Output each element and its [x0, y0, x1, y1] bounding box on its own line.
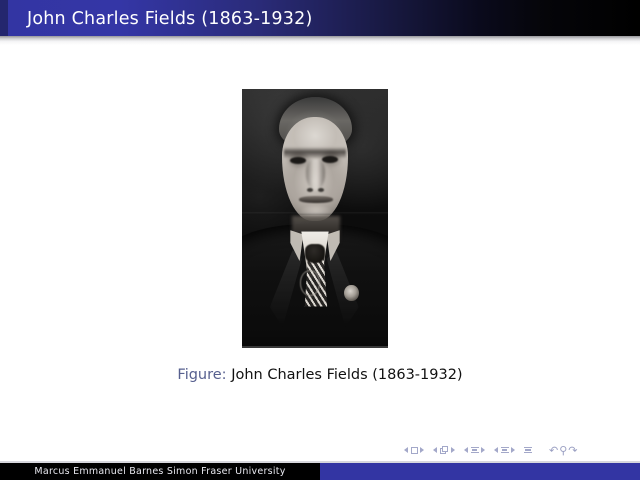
search-icon[interactable]: ⚲ [559, 445, 567, 456]
figure-caption-label: Figure: [177, 367, 226, 383]
previous-frame-icon[interactable] [433, 447, 437, 453]
previous-section-icon[interactable] [494, 447, 498, 453]
section-navigation[interactable] [494, 446, 515, 454]
next-slide-icon[interactable] [420, 447, 424, 453]
next-frame-icon[interactable] [451, 447, 455, 453]
subsection-navigation[interactable] [464, 446, 485, 454]
photo-eye-left [290, 157, 306, 164]
figure-caption: Figure: John Charles Fields (1863-1932) [0, 365, 640, 385]
back-icon[interactable]: ↶ [549, 445, 558, 456]
forward-icon[interactable]: ↷ [568, 445, 577, 456]
navigation-tools[interactable]: ↶ ⚲ ↷ [549, 445, 578, 456]
portrait-photograph [242, 89, 388, 348]
slide-navigation[interactable] [404, 447, 424, 454]
presentation-navigation[interactable] [524, 446, 532, 454]
photo-mouth [299, 196, 333, 203]
next-subsection-icon[interactable] [481, 447, 485, 453]
slide-footer: Marcus Emmanuel Barnes Simon Fraser Univ… [0, 461, 640, 480]
previous-subsection-icon[interactable] [464, 447, 468, 453]
slide-icon[interactable] [411, 447, 418, 454]
photo-scan-seam [242, 212, 388, 215]
footer-author-institute: Marcus Emmanuel Barnes Simon Fraser Univ… [0, 463, 320, 480]
beamer-slide: John Charles Fields (1863-1932) [0, 0, 640, 480]
figure-caption-text: John Charles Fields (1863-1932) [231, 367, 462, 383]
photo-chain-loop [300, 270, 320, 295]
photo-lapel-pin [344, 285, 359, 302]
page-title: John Charles Fields (1863-1932) [27, 7, 312, 31]
photo-bottom-edge [242, 346, 388, 348]
slide-body: Figure: John Charles Fields (1863-1932) [0, 45, 640, 455]
frames-icon[interactable] [440, 446, 449, 454]
presentation-icon[interactable] [524, 446, 532, 454]
title-bar-shadow [0, 36, 640, 45]
slide-title-bar: John Charles Fields (1863-1932) [0, 0, 640, 36]
next-section-icon[interactable] [511, 447, 515, 453]
previous-slide-icon[interactable] [404, 447, 408, 453]
frame-navigation[interactable] [433, 446, 455, 454]
footer-right-block [320, 463, 640, 480]
photo-tie-knot [305, 244, 325, 262]
title-bar-left-cap [0, 0, 8, 36]
figure-image-frame [242, 89, 388, 348]
photo-nostril-right [318, 188, 324, 192]
photo-nostril-left [307, 188, 313, 192]
section-icon[interactable] [501, 446, 509, 454]
subsection-icon[interactable] [471, 446, 479, 454]
beamer-navigation-symbols[interactable]: ↶ ⚲ ↷ [404, 443, 636, 457]
